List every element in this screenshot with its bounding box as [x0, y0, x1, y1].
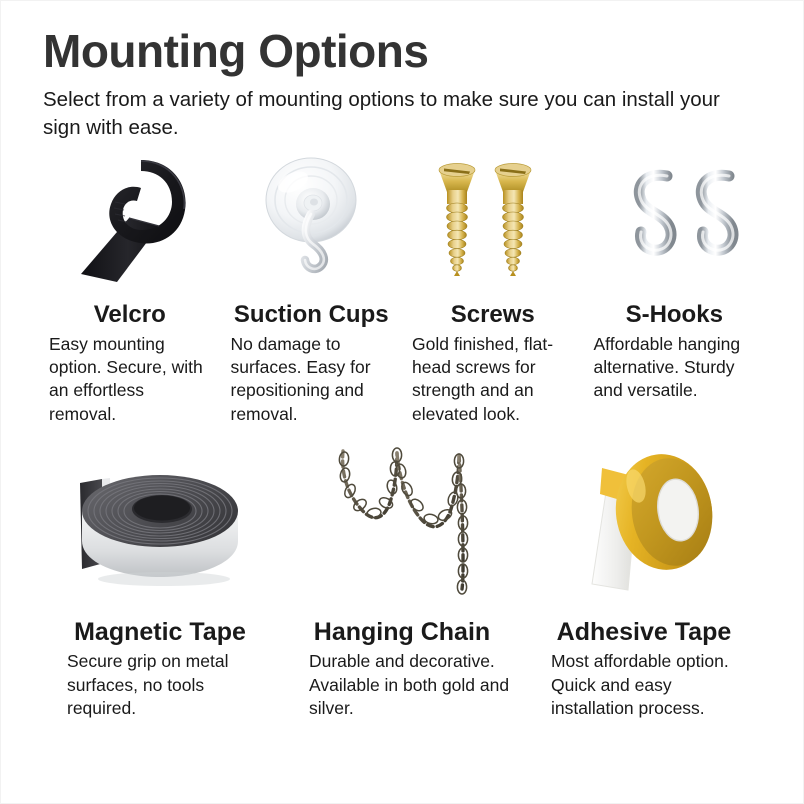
- adhesive-tape-roll-icon: [556, 440, 731, 605]
- s-hooks-art: [590, 152, 760, 292]
- mounting-options-panel: Mounting Options Select from a variety o…: [0, 0, 804, 804]
- option-description: Durable and decorative. Available in bot…: [287, 650, 517, 720]
- screws-art: [408, 152, 578, 292]
- option-card-velcro[interactable]: Velcro Easy mounting option. Secure, wit…: [39, 152, 221, 425]
- option-description: No damage to surfaces. Easy for repositi…: [227, 333, 397, 426]
- option-card-adhesive-tape[interactable]: Adhesive Tape Most affordable option. Qu…: [523, 440, 765, 720]
- option-description: Most affordable option. Quick and easy i…: [529, 650, 759, 720]
- option-description: Gold finished, flat-head screws for stre…: [408, 333, 578, 426]
- option-title: Screws: [408, 302, 578, 328]
- hanging-chain-icon: [317, 443, 487, 605]
- option-card-suction-cups[interactable]: Suction Cups No damage to surfaces. Easy…: [221, 152, 403, 425]
- options-grid: Velcro Easy mounting option. Secure, wit…: [1, 152, 803, 720]
- header: Mounting Options Select from a variety o…: [1, 1, 803, 142]
- option-title: Velcro: [45, 302, 215, 328]
- velcro-strap-icon: [55, 152, 205, 292]
- page-subtitle: Select from a variety of mounting option…: [43, 86, 723, 143]
- option-description: Secure grip on metal surfaces, no tools …: [45, 650, 275, 720]
- magnetic-tape-roll-icon: [52, 445, 267, 605]
- option-title: Hanging Chain: [287, 619, 517, 647]
- options-row-2: Magnetic Tape Secure grip on metal surfa…: [39, 440, 765, 720]
- option-description: Easy mounting option. Secure, with an ef…: [45, 333, 215, 426]
- adhesive-tape-art: [529, 440, 759, 605]
- s-hooks-icon: [599, 152, 749, 292]
- options-row-1: Velcro Easy mounting option. Secure, wit…: [39, 152, 765, 425]
- page-title: Mounting Options: [43, 27, 761, 76]
- option-card-magnetic-tape[interactable]: Magnetic Tape Secure grip on metal surfa…: [39, 440, 281, 720]
- flat-head-screws-icon: [423, 152, 563, 292]
- option-title: Magnetic Tape: [45, 619, 275, 647]
- suction-cup-hook-icon: [241, 152, 381, 292]
- velcro-art: [45, 152, 215, 292]
- option-card-s-hooks[interactable]: S-Hooks Affordable hanging alternative. …: [584, 152, 766, 402]
- option-title: Suction Cups: [227, 302, 397, 328]
- option-card-screws[interactable]: Screws Gold finished, flat-head screws f…: [402, 152, 584, 425]
- option-title: S-Hooks: [590, 302, 760, 328]
- option-description: Affordable hanging alternative. Sturdy a…: [590, 333, 760, 403]
- hanging-chain-art: [287, 440, 517, 605]
- option-card-hanging-chain[interactable]: Hanging Chain Durable and decorative. Av…: [281, 440, 523, 720]
- option-title: Adhesive Tape: [529, 619, 759, 647]
- suction-cup-art: [227, 152, 397, 292]
- magnetic-tape-art: [45, 440, 275, 605]
